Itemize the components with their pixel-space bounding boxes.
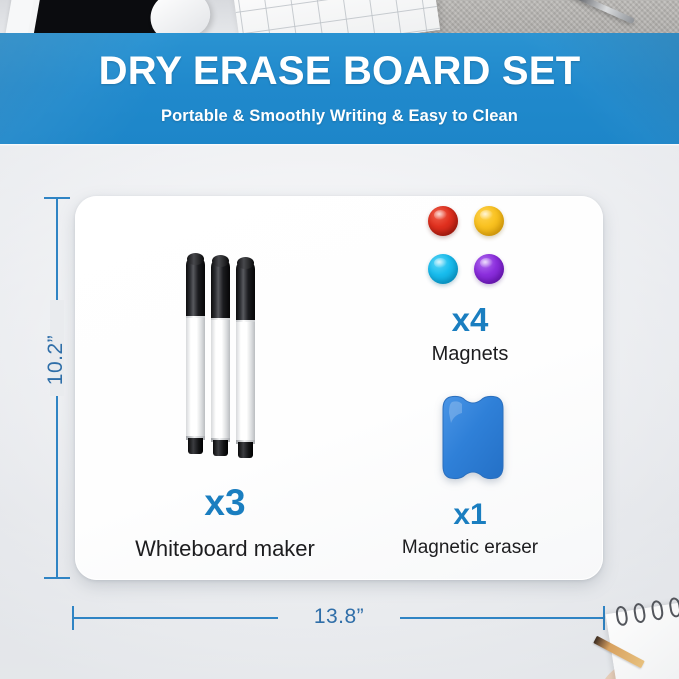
page-title: DRY ERASE BOARD SET [0, 51, 679, 91]
eraser-label: Magnetic eraser [385, 538, 555, 557]
marker-1 [186, 256, 205, 454]
width-dimension-cap-right [603, 606, 605, 630]
marker-cap [236, 260, 255, 326]
height-dimension-cap-bottom [44, 577, 70, 579]
marker-body [211, 320, 230, 442]
magnet-cyan [428, 254, 458, 284]
markers-label: Whiteboard maker [110, 538, 340, 560]
marker-tip [188, 438, 203, 454]
eraser-shape [440, 393, 506, 482]
marker-group [186, 256, 266, 454]
width-dimension-cap-left [72, 606, 74, 630]
eraser-quantity: x1 [405, 500, 535, 530]
marker-3 [236, 260, 255, 458]
marker-cap-top [212, 255, 229, 267]
header-banner: DRY ERASE BOARD SET Portable & Smoothly … [0, 33, 679, 144]
marker-cap-top [237, 257, 254, 269]
height-dimension-cap-top [44, 197, 70, 199]
markers-quantity: x3 [160, 484, 290, 521]
magnet-purple [474, 254, 504, 284]
magnetic-eraser [440, 393, 506, 482]
marker-2 [211, 258, 230, 456]
magnet-group [428, 206, 504, 284]
marker-cap-top [187, 253, 204, 265]
magnet-yellow [474, 206, 504, 236]
marker-body [236, 322, 255, 444]
page-subtitle: Portable & Smoothly Writing & Easy to Cl… [0, 107, 679, 126]
magnet-red [428, 206, 458, 236]
height-dimension-label: 10.2” [44, 295, 68, 425]
marker-tip [238, 442, 253, 458]
magnets-label: Magnets [385, 344, 555, 364]
magnets-quantity: x4 [405, 303, 535, 336]
marker-tip [213, 440, 228, 456]
marker-body [186, 318, 205, 440]
marker-cap [186, 256, 205, 322]
banner-divider [0, 144, 679, 146]
width-dimension-label: 13.8” [274, 605, 404, 629]
marker-cap [211, 258, 230, 324]
product-infographic: DRY ERASE BOARD SET Portable & Smoothly … [0, 0, 679, 679]
